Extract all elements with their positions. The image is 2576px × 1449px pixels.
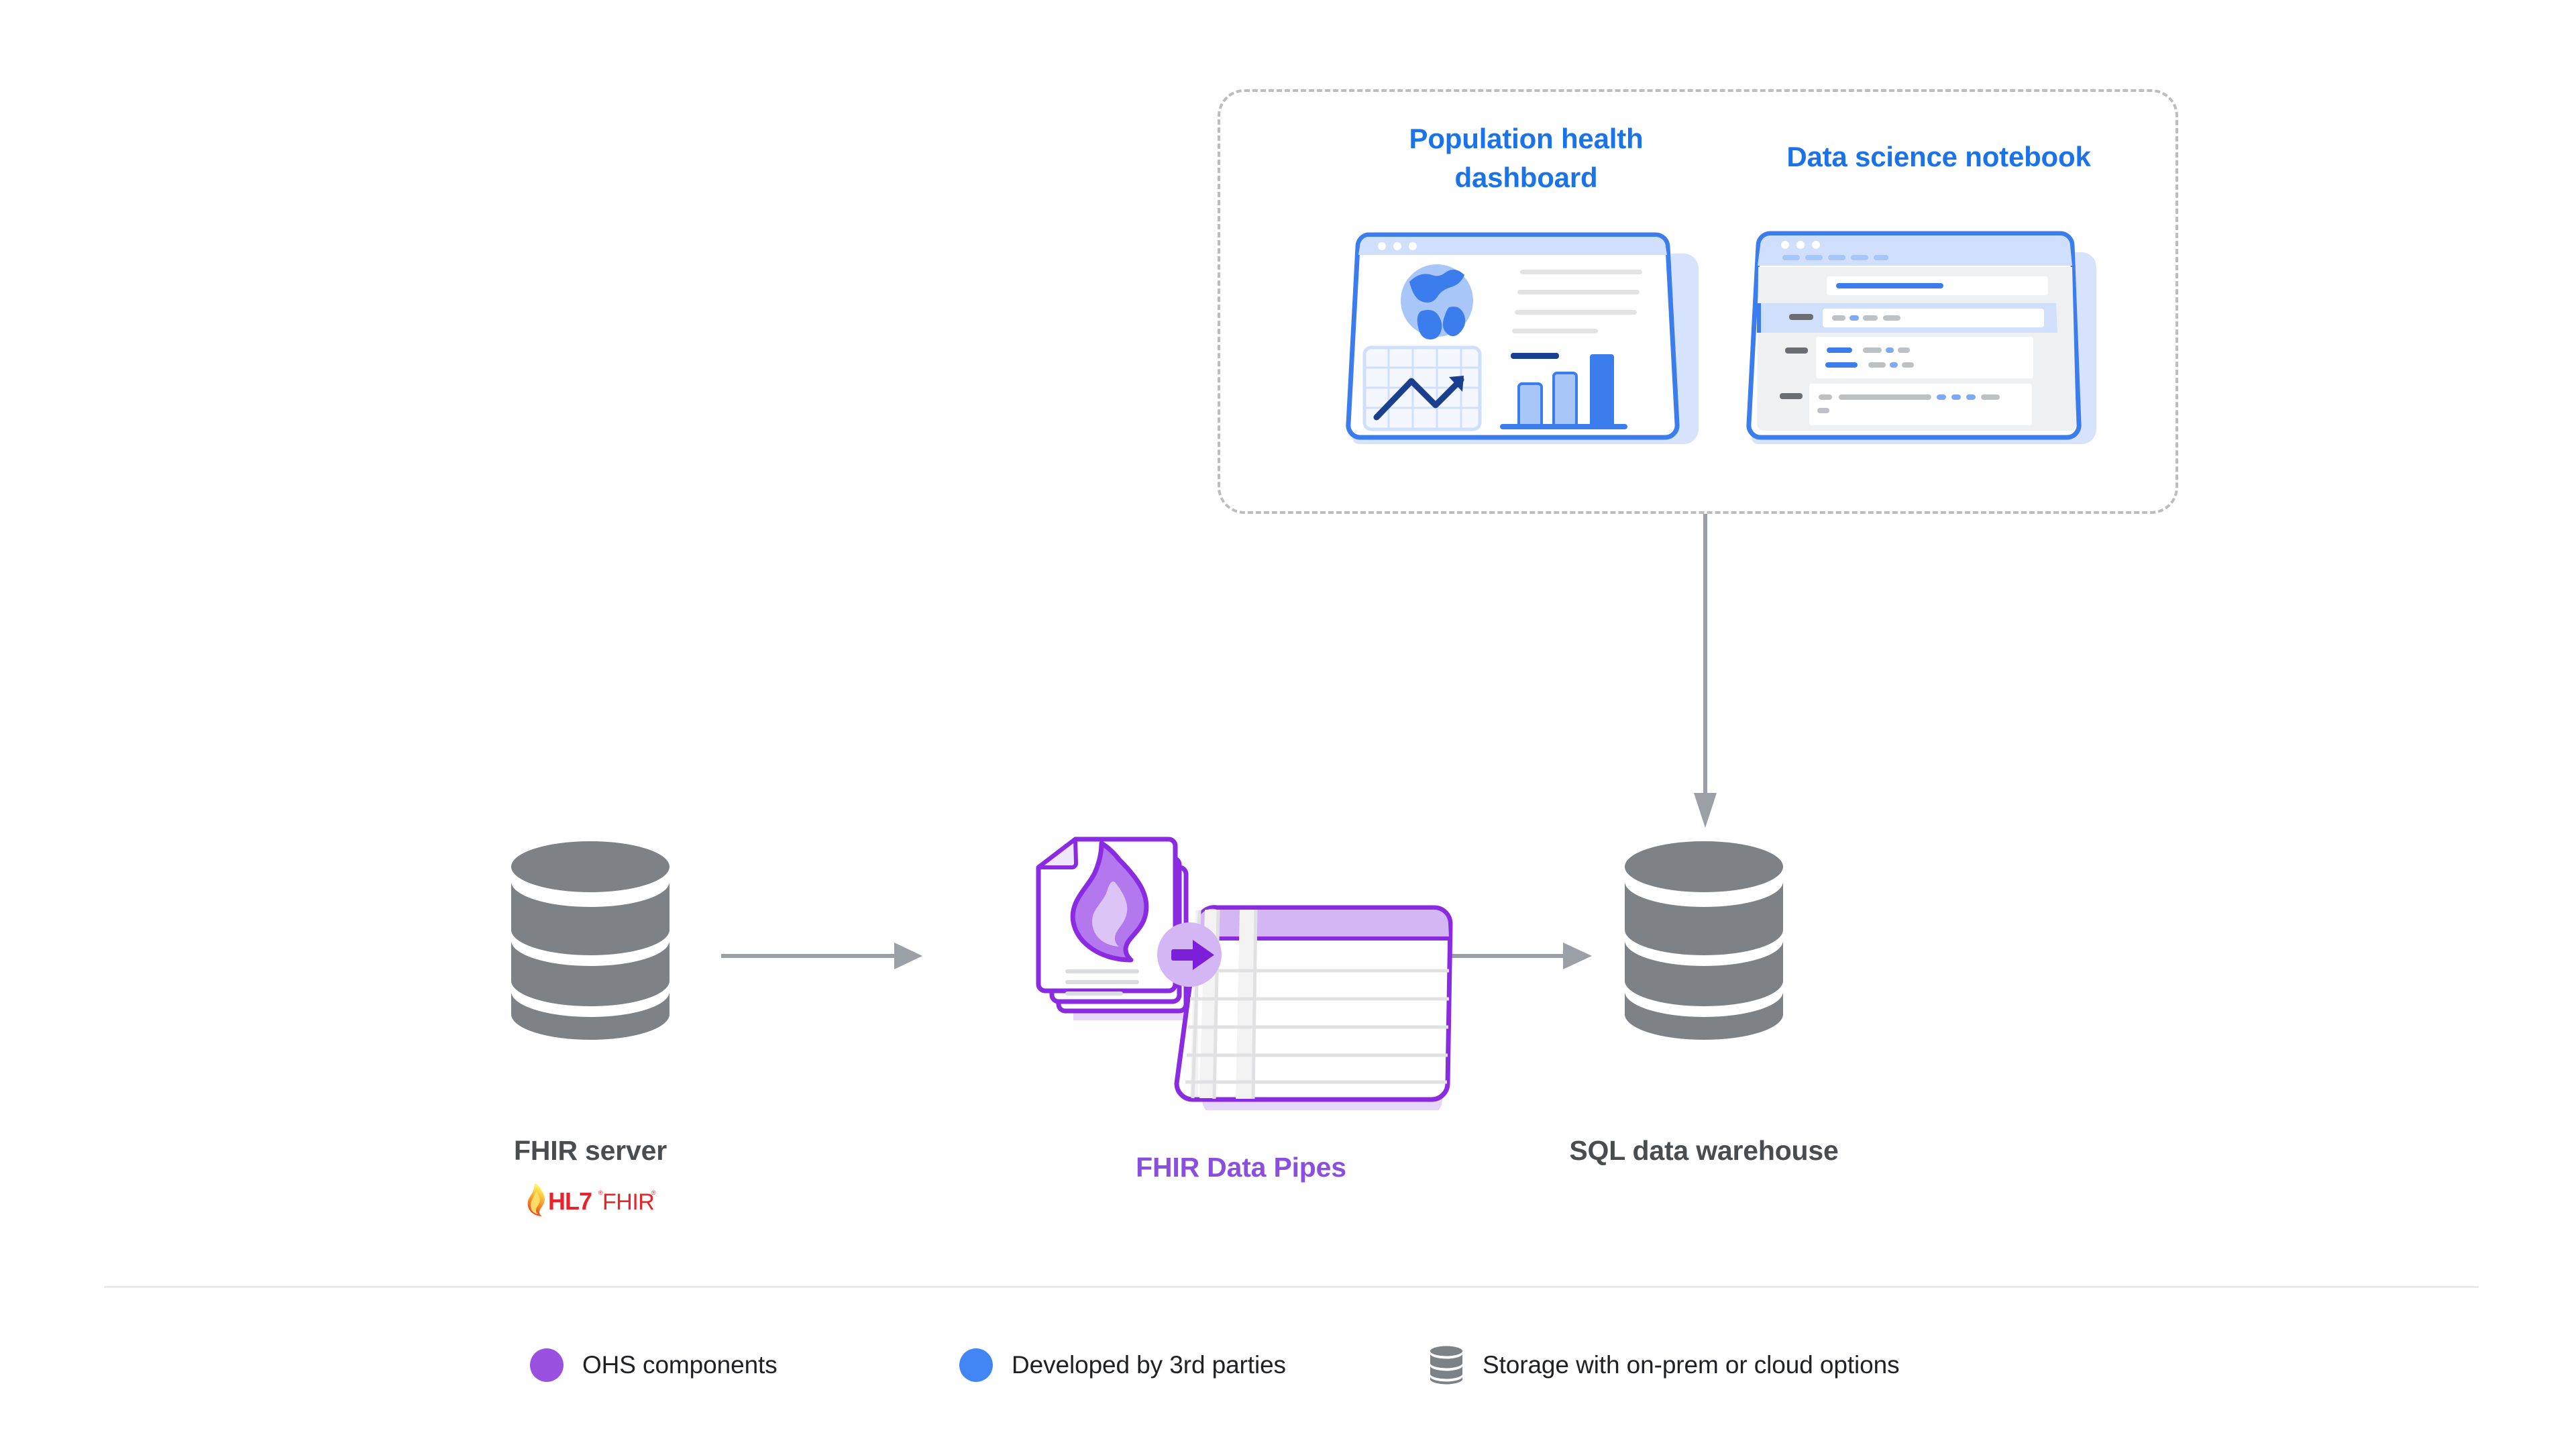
fhir-documents-to-table-icon — [1026, 828, 1456, 1110]
legend: OHS components Developed by 3rd parties … — [530, 1342, 2033, 1389]
legend-item-ohs-components: OHS components — [530, 1342, 959, 1389]
node-fhir-server: FHIR server HL7 ® FHIR ® — [376, 839, 805, 1218]
legend-label-ohs-components: OHS components — [582, 1351, 777, 1379]
edge-consumers-to-warehouse — [1685, 514, 1725, 830]
svg-text:FHIR: FHIR — [602, 1189, 654, 1215]
legend-label-third-parties: Developed by 3rd parties — [1012, 1351, 1286, 1379]
node-label-fhir-server: FHIR server — [376, 1135, 805, 1167]
legend-marker-blue-circle-icon — [959, 1348, 993, 1382]
notebook-window-illustration — [1741, 228, 2103, 456]
legend-item-storage: Storage with on-prem or cloud options — [1429, 1342, 2033, 1389]
dashboard-window-illustration — [1342, 228, 1704, 456]
database-cylinder-icon — [1620, 839, 1788, 1040]
legend-marker-database-cylinder-icon — [1429, 1346, 1464, 1385]
diagram-canvas: Population health dashboard Data science… — [0, 0, 2576, 1449]
legend-divider — [104, 1286, 2479, 1288]
consumer-title-data-science-notebook: Data science notebook — [1707, 138, 2170, 176]
database-cylinder-icon — [506, 839, 674, 1040]
legend-marker-purple-circle-icon — [530, 1348, 563, 1382]
node-sql-data-warehouse: SQL data warehouse — [1462, 839, 1945, 1167]
legend-label-storage: Storage with on-prem or cloud options — [1483, 1351, 1900, 1379]
svg-text:HL7: HL7 — [548, 1187, 592, 1215]
consumer-title-population-health-dashboard: Population health dashboard — [1365, 119, 1687, 197]
svg-text:®: ® — [651, 1189, 656, 1196]
node-label-sql-data-warehouse: SQL data warehouse — [1462, 1135, 1945, 1167]
hl7-fhir-logo: HL7 ® FHIR ® — [523, 1183, 657, 1218]
legend-item-third-parties: Developed by 3rd parties — [959, 1342, 1429, 1389]
